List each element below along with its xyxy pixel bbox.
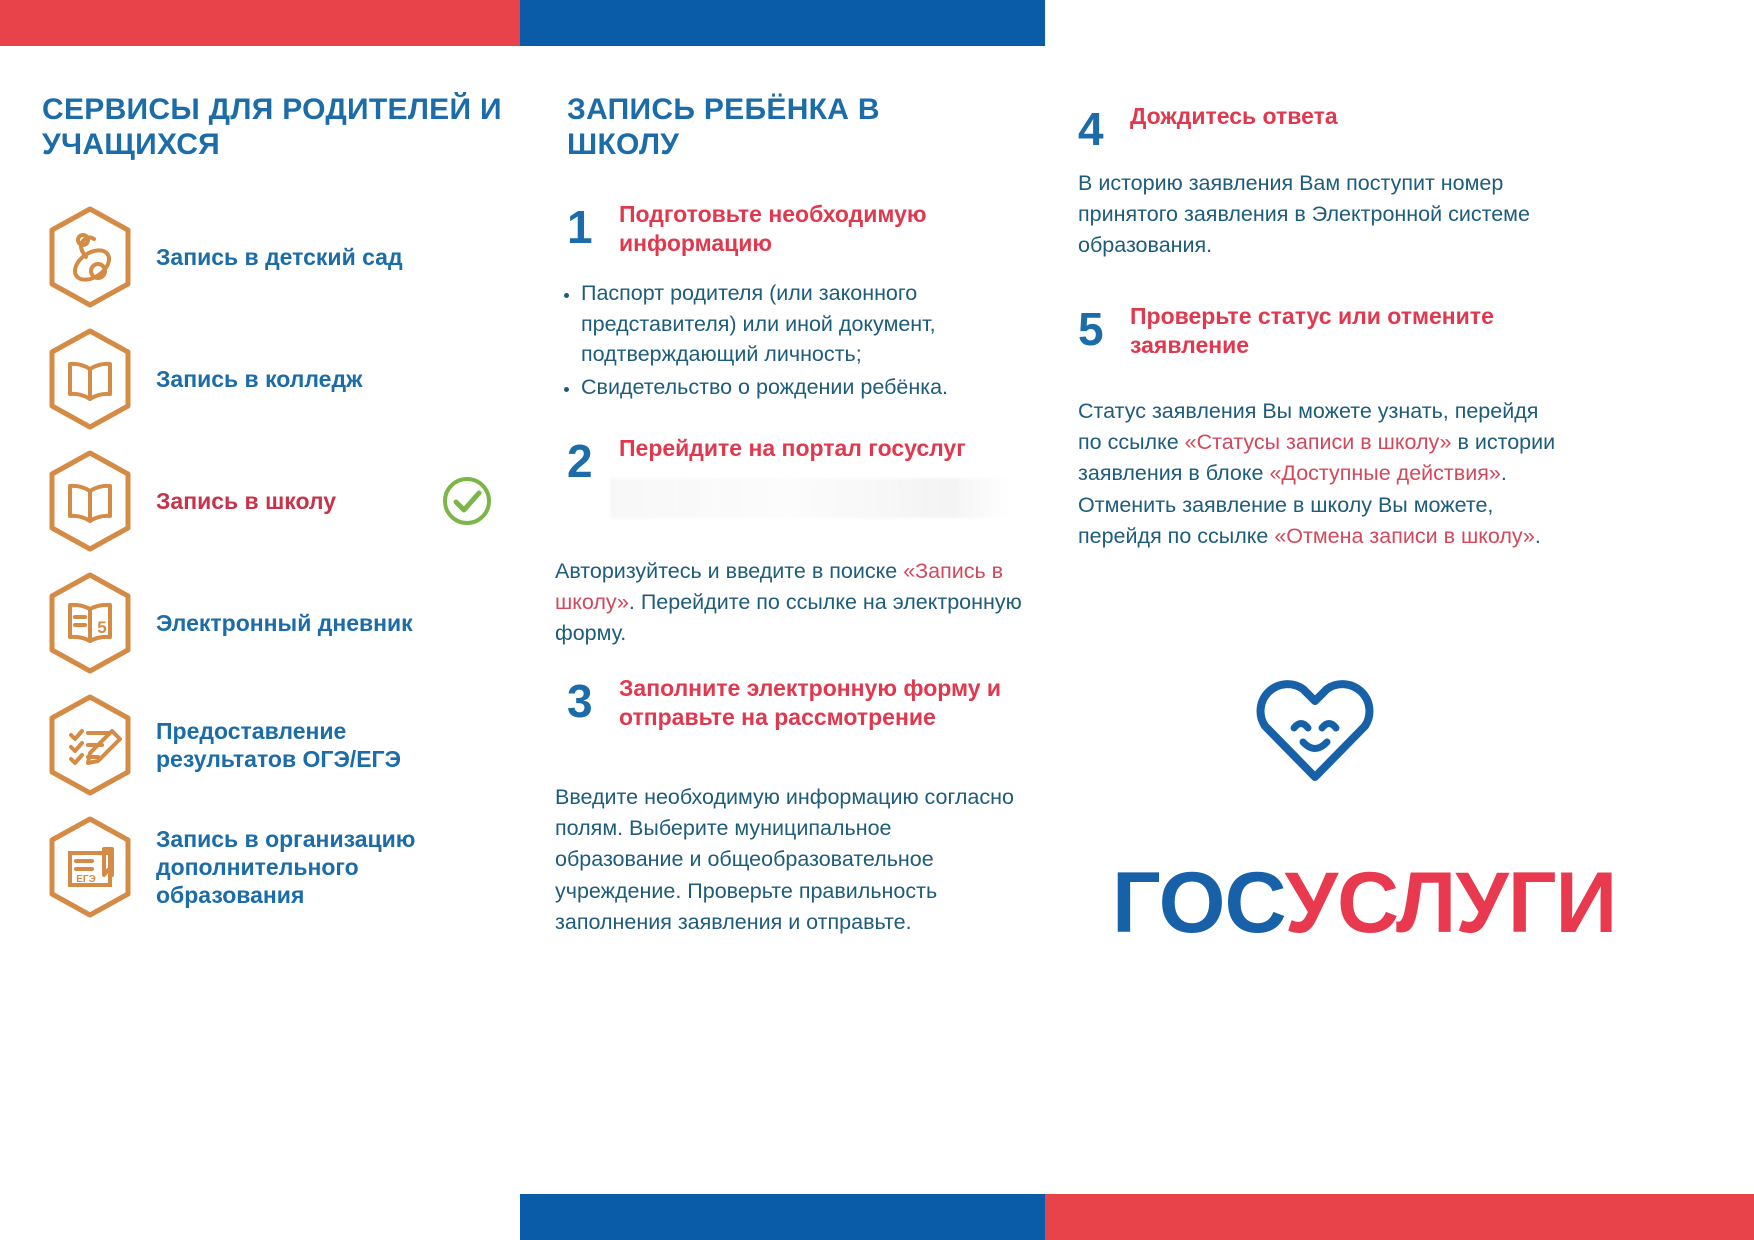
step-5-body: Статус заявления Вы можете узнать, перей…: [1078, 396, 1558, 552]
svg-text:ЕГЭ: ЕГЭ: [76, 874, 95, 885]
wordmark-uslugi: УСЛУГИ: [1285, 855, 1617, 951]
step-2-number: 2: [567, 432, 619, 484]
pacifier-icon: [42, 205, 138, 309]
step-2-heading: Перейдите на портал госуслуг: [619, 432, 966, 463]
step-3-number: 3: [567, 672, 619, 724]
service-item-5[interactable]: ЕГЭЗапись в организацию дополнительного …: [42, 806, 512, 928]
step-1: 1 Подготовьте необходимую информацию: [567, 198, 1027, 258]
flag-bar-bottom-blue: [520, 1194, 1045, 1240]
step-5-heading: Проверьте статус или отмените заявление: [1130, 300, 1548, 360]
step-1-number: 1: [567, 198, 619, 250]
step-2: 2 Перейдите на портал госуслуг: [567, 432, 1027, 484]
certificate-icon: ЕГЭ: [42, 815, 138, 919]
step-2-body-a: Авторизуйтесь и введите в поиске: [555, 559, 903, 583]
step-5-text-4: .: [1535, 524, 1541, 548]
step-1-body: Паспорт родителя (или законного представ…: [555, 278, 1025, 404]
service-item-label: Запись в детский сад: [156, 243, 403, 271]
step-4-heading: Дождитесь ответа: [1130, 100, 1338, 131]
checklist-pencil-icon: [42, 693, 138, 797]
service-item-label: Запись в школу: [156, 487, 336, 515]
service-item-0[interactable]: Запись в детский сад: [42, 196, 512, 318]
step-4-body: В историю заявления Вам поступит номер п…: [1078, 168, 1548, 262]
step-5-quote-2: «Доступные действия»: [1269, 461, 1500, 485]
wordmark-gos: ГОС: [1112, 855, 1285, 951]
step-4: 4 Дождитесь ответа: [1078, 100, 1548, 152]
service-item-4[interactable]: Предоставление результатов ОГЭ/ЕГЭ: [42, 684, 512, 806]
step-5-quote-3: «Отмена записи в школу»: [1274, 524, 1535, 548]
service-item-1[interactable]: Запись в колледж: [42, 318, 512, 440]
svg-text:5: 5: [97, 618, 106, 637]
step-5-number: 5: [1078, 300, 1130, 352]
step-4-number: 4: [1078, 100, 1130, 152]
open-book-icon: [42, 449, 138, 553]
service-item-2[interactable]: Запись в школу: [42, 440, 512, 562]
service-item-label: Запись в организацию дополнительного обр…: [156, 825, 456, 909]
service-item-3[interactable]: 5Электронный дневник: [42, 562, 512, 684]
step-1-bullet: Паспорт родителя (или законного представ…: [581, 278, 1025, 370]
step-3: 3 Заполните электронную форму и отправьт…: [567, 672, 1027, 732]
step-2-body: Авторизуйтесь и введите в поиске «Запись…: [555, 556, 1025, 650]
step-5: 5 Проверьте статус или отмените заявлени…: [1078, 300, 1548, 360]
left-column-title: СЕРВИСЫ ДЛЯ РОДИТЕЛЕЙ И УЧАЩИХСЯ: [42, 92, 512, 163]
middle-column-title: ЗАПИСЬ РЕБЁНКА В ШКОЛУ: [567, 92, 967, 163]
gradebook-icon: 5: [42, 571, 138, 675]
services-list: Запись в детский садЗапись в колледжЗапи…: [42, 196, 512, 928]
step-3-body: Введите необходимую информацию согласно …: [555, 782, 1025, 938]
step-5-quote-1: «Статусы записи в школу»: [1185, 430, 1452, 454]
step-1-bullet-list: Паспорт родителя (или законного представ…: [555, 278, 1025, 402]
flag-bar-top-red: [0, 0, 520, 46]
check-circle-icon: [440, 474, 494, 528]
erased-text-artifact: [610, 478, 1010, 518]
step-1-bullet: Свидетельство о рождении ребёнка.: [581, 372, 1025, 403]
flag-bar-top-blue: [520, 0, 1045, 46]
step-1-heading: Подготовьте необходимую информацию: [619, 198, 1027, 258]
service-item-label: Предоставление результатов ОГЭ/ЕГЭ: [156, 717, 456, 773]
smiling-heart-icon: [1253, 672, 1377, 789]
flag-bar-bottom-red: [1045, 1194, 1754, 1240]
service-item-label: Запись в колледж: [156, 365, 362, 393]
service-item-label: Электронный дневник: [156, 609, 413, 637]
step-3-heading: Заполните электронную форму и отправьте …: [619, 672, 1027, 732]
gosuslugi-wordmark: ГОСУСЛУГИ: [1112, 860, 1616, 946]
open-book-icon: [42, 327, 138, 431]
